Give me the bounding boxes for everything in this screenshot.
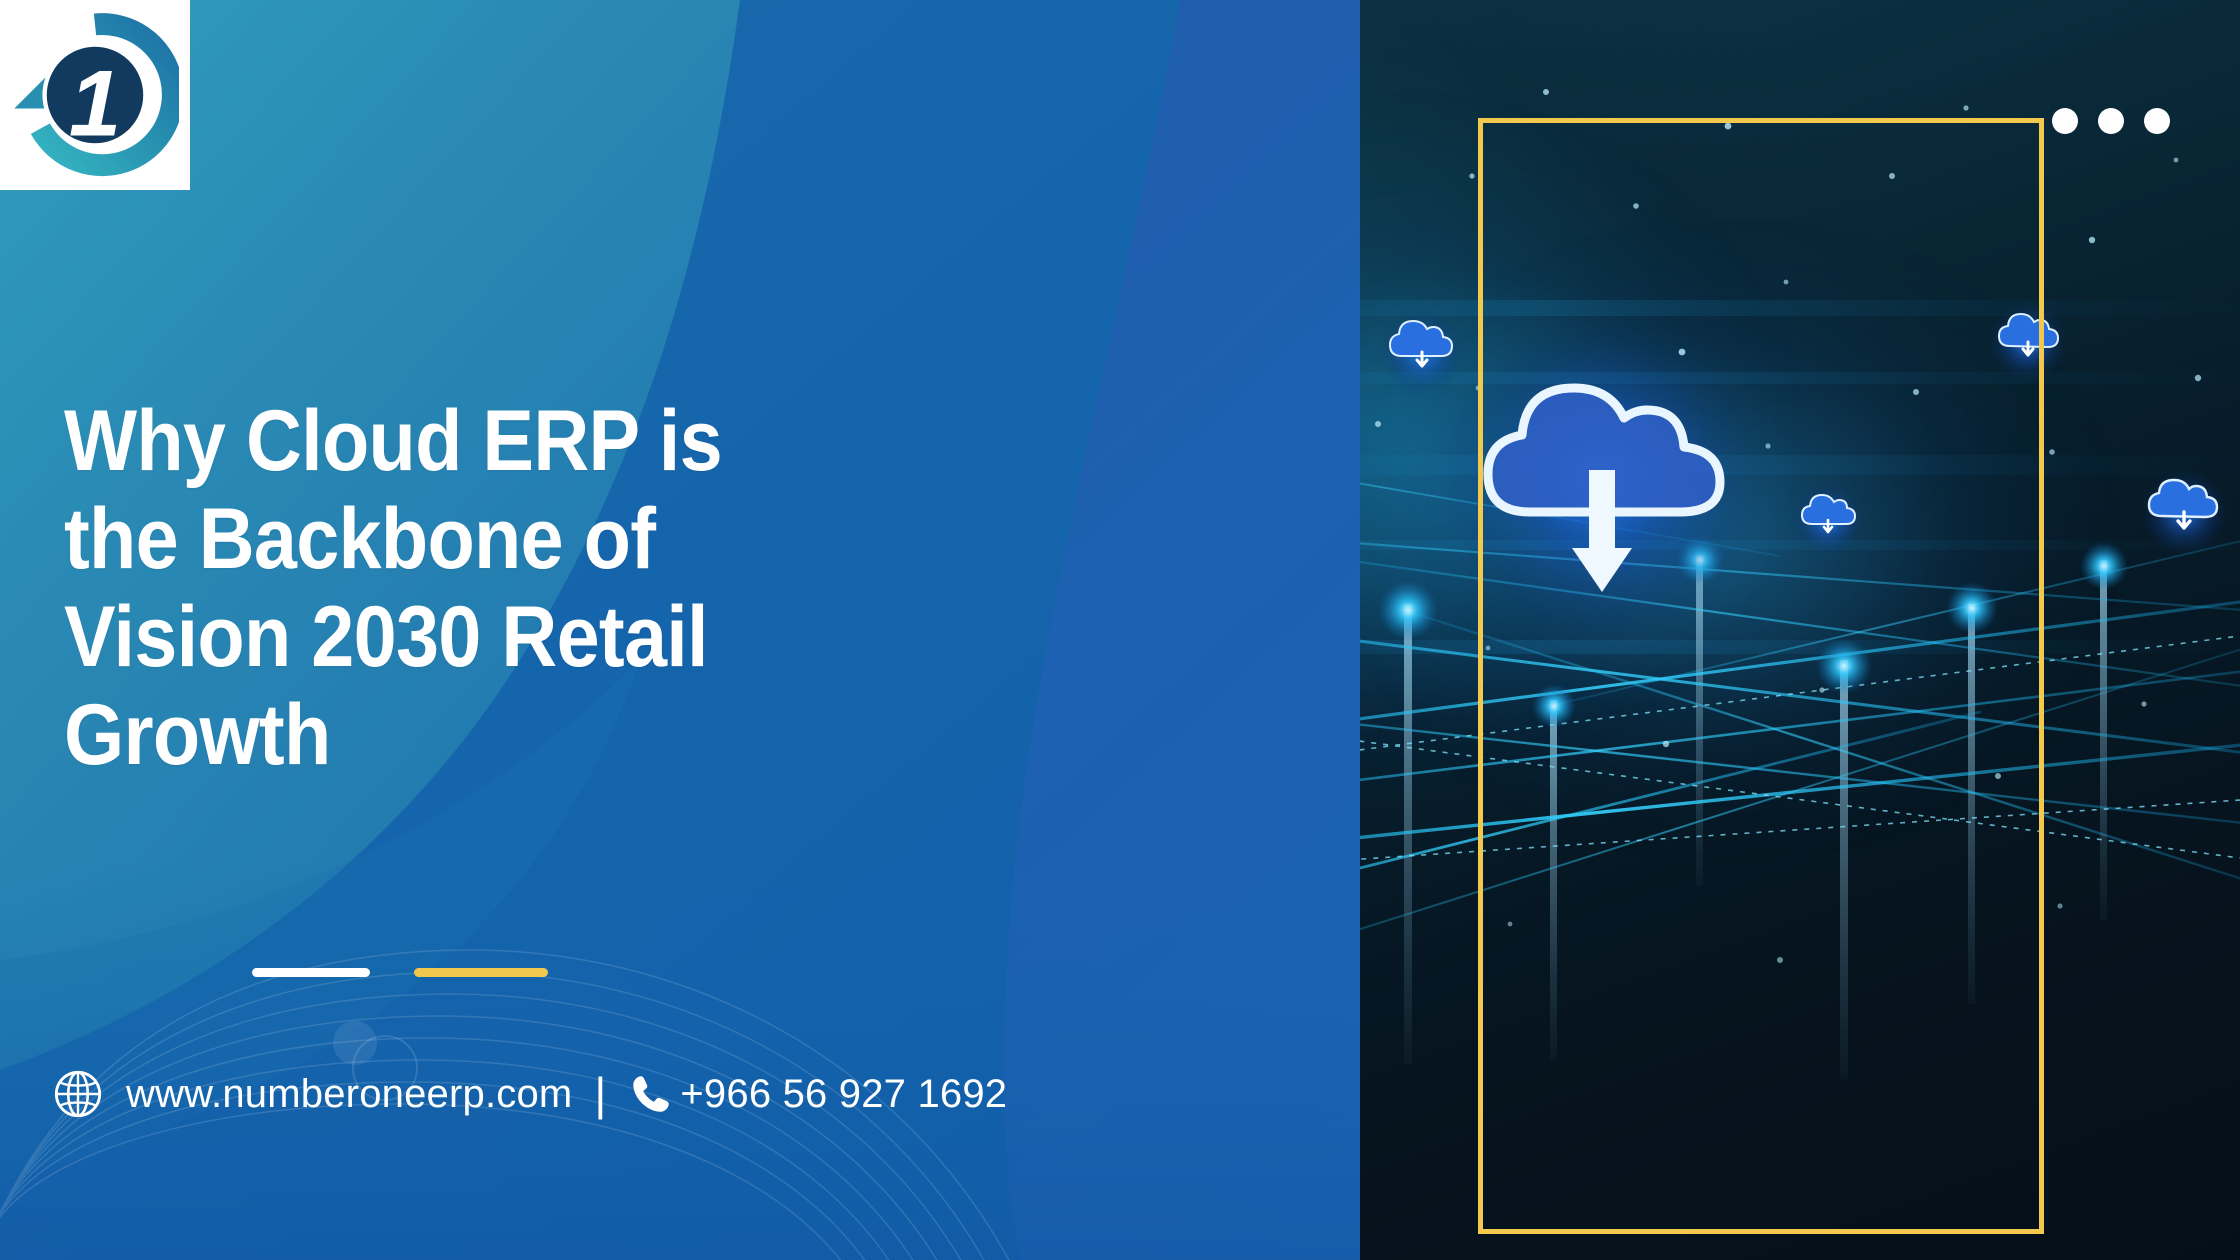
white-dash xyxy=(252,968,370,977)
divider-group xyxy=(252,968,548,977)
logo-digit: 1 xyxy=(69,50,121,155)
dot-1 xyxy=(2052,108,2078,134)
page-title: Why Cloud ERP is the Backbone of Vision … xyxy=(64,392,1064,784)
globe-icon xyxy=(52,1068,104,1120)
cloud-download-icon xyxy=(1440,316,1764,640)
contact-footer: www.numberoneerp.com | +966 56 927 1692 xyxy=(52,1068,1007,1120)
headline-line-2: the Backbone of xyxy=(64,490,964,588)
marketing-banner: 1 Why Cloud ERP is the Backbone of Visio… xyxy=(0,0,2240,1260)
three-dots-decoration xyxy=(2052,108,2170,134)
footer-separator: | xyxy=(594,1071,606,1117)
cloud-download-icon-small-4 xyxy=(2140,468,2228,556)
gold-dash xyxy=(414,968,548,977)
cloud-download-icon-small-1 xyxy=(1380,310,1464,394)
number-one-erp-logo: 1 xyxy=(11,11,179,179)
gold-frame-left-edge xyxy=(1478,118,1483,1234)
headline-line-1: Why Cloud ERP is xyxy=(64,392,964,490)
cloud-download-icon-small-3 xyxy=(1792,484,1864,556)
phone-number[interactable]: +966 56 927 1692 xyxy=(680,1072,1007,1117)
dot-2 xyxy=(2098,108,2124,134)
phone-icon xyxy=(628,1071,674,1117)
headline-line-4: Growth xyxy=(64,686,964,784)
logo-container[interactable]: 1 xyxy=(0,0,190,190)
cloud-download-icon-small-2 xyxy=(1988,302,2068,382)
headline-line-3: Vision 2030 Retail xyxy=(64,588,964,686)
dot-3 xyxy=(2144,108,2170,134)
website-url[interactable]: www.numberoneerp.com xyxy=(126,1072,572,1117)
